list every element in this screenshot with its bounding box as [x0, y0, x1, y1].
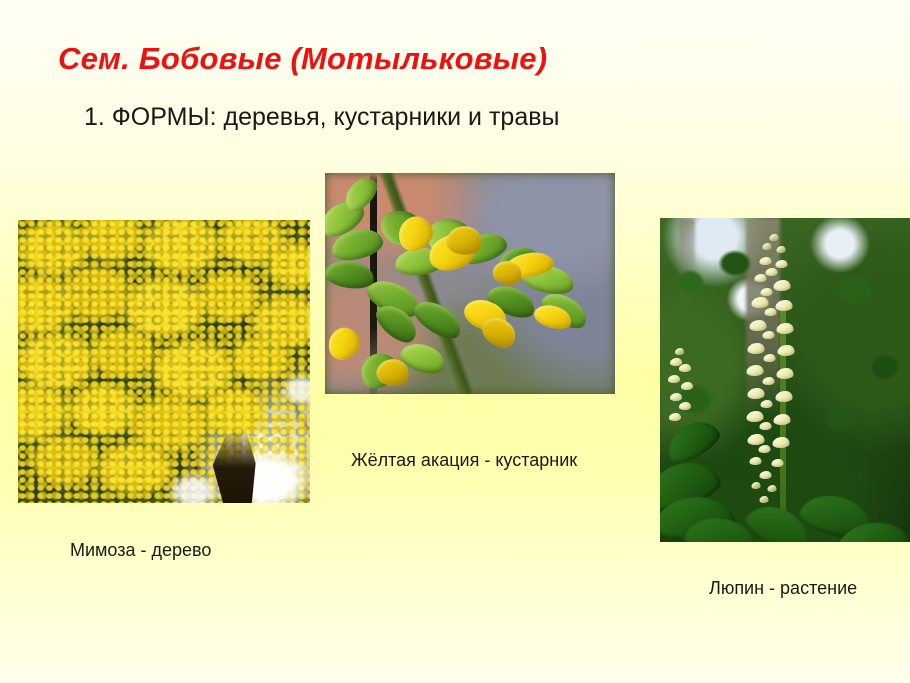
slide-canvas: Сем. Бобовые (Мотыльковые) 1. ФОРМЫ: дер…: [0, 0, 910, 683]
caption-lupine: Люпин - растение: [709, 578, 857, 599]
mimosa-sky-layer: [18, 220, 310, 503]
photo-acacia[interactable]: [325, 173, 615, 394]
page-title: Сем. Бобовые (Мотыльковые): [58, 41, 547, 77]
photo-mimosa[interactable]: [18, 220, 310, 503]
caption-mimosa: Мимоза - дерево: [70, 540, 211, 561]
caption-acacia: Жёлтая акация - кустарник: [351, 450, 577, 471]
photo-lupine[interactable]: [660, 218, 910, 542]
slide-subtitle: 1. ФОРМЫ: деревья, кустарники и травы: [84, 103, 559, 132]
lupine-flower-spike: [743, 234, 808, 519]
